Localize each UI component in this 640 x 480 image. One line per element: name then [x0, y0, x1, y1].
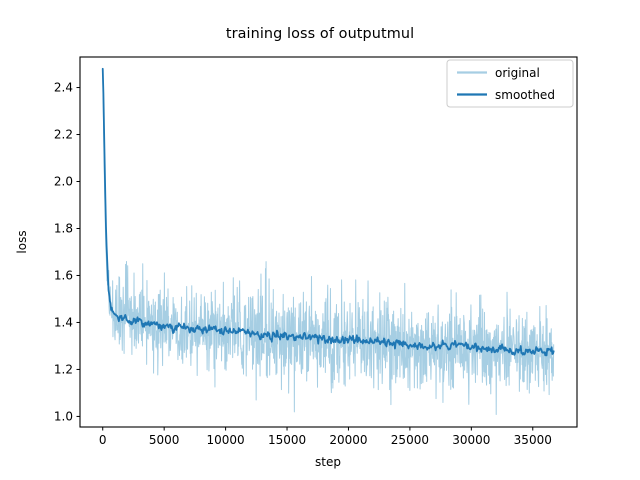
- x-axis: 05000100001500020000250003000035000: [99, 427, 552, 447]
- legend-label-original: original: [495, 66, 540, 80]
- legend-label-smoothed: smoothed: [495, 88, 555, 102]
- y-tick-label: 1.4: [54, 316, 73, 330]
- x-tick-label: 15000: [268, 433, 306, 447]
- y-tick-label: 1.0: [54, 410, 73, 424]
- plot-background: [80, 57, 577, 427]
- x-tick-label: 10000: [207, 433, 245, 447]
- x-tick-label: 35000: [514, 433, 552, 447]
- x-tick-label: 25000: [391, 433, 429, 447]
- x-axis-title: step: [315, 455, 341, 469]
- y-tick-label: 1.6: [54, 269, 73, 283]
- y-tick-label: 1.8: [54, 222, 73, 236]
- y-tick-label: 2.0: [54, 175, 73, 189]
- y-tick-label: 1.2: [54, 363, 73, 377]
- y-tick-label: 2.2: [54, 128, 73, 142]
- y-axis: 1.01.21.41.61.82.02.22.4: [54, 81, 80, 424]
- x-tick-label: 0: [99, 433, 107, 447]
- x-tick-label: 20000: [329, 433, 367, 447]
- y-tick-label: 2.4: [54, 81, 73, 95]
- legend: original smoothed: [447, 60, 573, 107]
- x-tick-label: 5000: [149, 433, 180, 447]
- plot-canvas: 05000100001500020000250003000035000 1.01…: [0, 0, 640, 480]
- x-tick-label: 30000: [452, 433, 490, 447]
- y-axis-title: loss: [15, 230, 29, 253]
- matplotlib-figure: training loss of outputmul 0500010000150…: [0, 0, 640, 480]
